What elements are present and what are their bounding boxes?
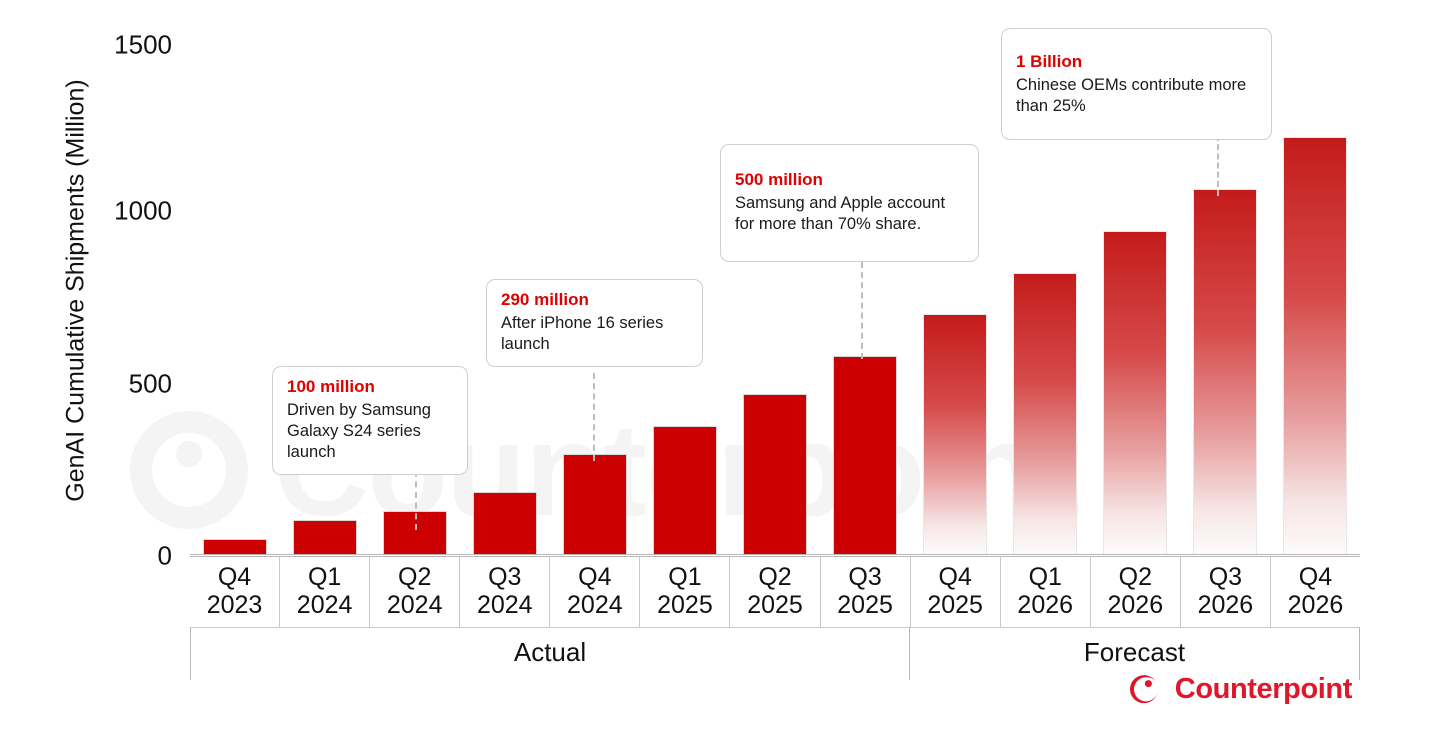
x-axis-label-q4-2026: Q42026 — [1271, 557, 1360, 627]
x-axis-year: 2025 — [911, 591, 1000, 619]
bar-q4-2026[interactable] — [1283, 137, 1348, 555]
x-axis-year: 2026 — [1181, 591, 1270, 619]
x-axis-year: 2026 — [1271, 591, 1360, 619]
x-axis-year: 2025 — [730, 591, 819, 619]
bar-slot — [910, 30, 1000, 555]
x-axis-quarter: Q4 — [550, 563, 639, 591]
x-axis-year: 2026 — [1091, 591, 1180, 619]
bar-q1-2025[interactable] — [653, 426, 718, 556]
x-axis-label-q2-2024: Q22024 — [370, 557, 460, 627]
annotation-body: Chinese OEMs contribute more than 25% — [1016, 75, 1258, 117]
x-axis-label-q2-2025: Q22025 — [730, 557, 820, 627]
counterpoint-logo: Counterpoint — [1128, 672, 1352, 706]
annotation-100-million: 100 million Driven by Samsung Galaxy S24… — [272, 366, 468, 475]
annotation-title: 1 Billion — [1016, 51, 1258, 73]
x-axis-label-q1-2025: Q12025 — [640, 557, 730, 627]
bar-slot — [820, 30, 910, 555]
x-axis-label-q3-2024: Q32024 — [460, 557, 550, 627]
x-axis-year: 2024 — [550, 591, 639, 619]
bar-q3-2026[interactable] — [1193, 189, 1258, 555]
x-axis-group-actual: Actual — [190, 627, 910, 680]
x-axis-year: 2024 — [460, 591, 549, 619]
bar-q4-2024[interactable] — [563, 454, 628, 556]
bar-q3-2024[interactable] — [473, 492, 538, 555]
bar-slot — [1270, 30, 1360, 555]
annotation-title: 290 million — [501, 289, 689, 311]
annotation-body: Samsung and Apple account for more than … — [735, 193, 965, 235]
x-axis-quarter: Q1 — [640, 563, 729, 591]
x-axis-quarter: Q2 — [730, 563, 819, 591]
counterpoint-wordmark: Counterpoint — [1175, 673, 1352, 706]
y-tick-0: 0 — [158, 541, 172, 572]
x-axis-quarter: Q2 — [1091, 563, 1180, 591]
x-axis-quarter: Q4 — [1271, 563, 1360, 591]
x-axis-line — [190, 554, 1360, 555]
annotation-body: After iPhone 16 series launch — [501, 313, 689, 355]
bar-q1-2024[interactable] — [293, 520, 358, 555]
annotation-title: 100 million — [287, 376, 454, 398]
bar-slot — [190, 30, 280, 555]
bar-q3-2025[interactable] — [833, 356, 898, 556]
x-axis-quarter: Q1 — [1001, 563, 1090, 591]
leader-line-2 — [593, 373, 595, 461]
x-axis-label-q4-2023: Q42023 — [190, 557, 280, 627]
x-axis-label-q1-2026: Q12026 — [1001, 557, 1091, 627]
x-axis-year: 2025 — [821, 591, 910, 619]
x-axis-quarter: Q3 — [460, 563, 549, 591]
y-axis-ticks: 1500 1000 500 0 — [96, 0, 182, 732]
bar-q4-2025[interactable] — [923, 314, 988, 556]
x-axis-year: 2024 — [280, 591, 369, 619]
leader-line-4 — [1217, 135, 1219, 196]
x-axis-year: 2025 — [640, 591, 729, 619]
counterpoint-mark-icon — [1128, 672, 1162, 706]
x-axis-quarter: Q3 — [1181, 563, 1270, 591]
y-axis-title: GenAI Cumulative Shipments (Million) — [62, 31, 91, 551]
y-tick-500: 500 — [129, 369, 172, 400]
x-axis-year: 2024 — [370, 591, 459, 619]
x-axis-label-q4-2024: Q42024 — [550, 557, 640, 627]
bar-q1-2026[interactable] — [1013, 273, 1078, 555]
bar-q2-2026[interactable] — [1103, 231, 1168, 555]
y-tick-1500: 1500 — [114, 30, 172, 61]
x-axis-label-q2-2026: Q22026 — [1091, 557, 1181, 627]
bar-slot — [280, 30, 370, 555]
bar-q4-2023[interactable] — [203, 539, 268, 555]
x-axis-quarter: Q2 — [370, 563, 459, 591]
y-tick-1000: 1000 — [114, 196, 172, 227]
annotation-290-million: 290 million After iPhone 16 series launc… — [486, 279, 703, 367]
x-axis-label-q3-2026: Q32026 — [1181, 557, 1271, 627]
x-axis-year: 2023 — [190, 591, 279, 619]
x-axis-quarter: Q4 — [190, 563, 279, 591]
leader-line-3 — [861, 262, 863, 359]
annotation-title: 500 million — [735, 169, 965, 191]
annotation-body: Driven by Samsung Galaxy S24 series laun… — [287, 400, 454, 463]
x-axis-label-q1-2024: Q12024 — [280, 557, 370, 627]
x-axis-year: 2026 — [1001, 591, 1090, 619]
x-axis: Q42023Q12024Q22024Q32024Q42024Q12025Q220… — [190, 556, 1360, 680]
bar-slot — [730, 30, 820, 555]
bar-q2-2025[interactable] — [743, 394, 808, 555]
x-axis-label-q3-2025: Q32025 — [821, 557, 911, 627]
x-axis-category-row: Q42023Q12024Q22024Q32024Q42024Q12025Q220… — [190, 556, 1360, 627]
x-axis-quarter: Q1 — [280, 563, 369, 591]
annotation-500-million: 500 million Samsung and Apple account fo… — [720, 144, 979, 262]
x-axis-label-q4-2025: Q42025 — [911, 557, 1001, 627]
x-axis-quarter: Q3 — [821, 563, 910, 591]
x-axis-quarter: Q4 — [911, 563, 1000, 591]
chart-container: Counterpoint GenAI Cumulative Shipments … — [0, 0, 1440, 732]
annotation-1-billion: 1 Billion Chinese OEMs contribute more t… — [1001, 28, 1272, 140]
